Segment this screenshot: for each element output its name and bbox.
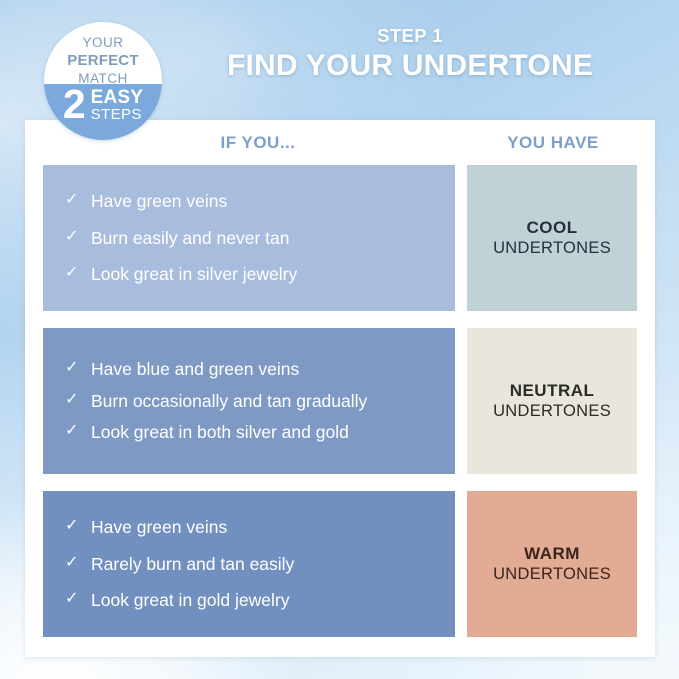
list-item-label: Burn easily and never tan — [91, 227, 439, 250]
check-icon: ✓ — [65, 190, 91, 211]
result-swatch-warm: WARM UNDERTONES — [467, 491, 637, 637]
result-swatch-neutral: NEUTRAL UNDERTONES — [467, 328, 637, 474]
check-icon: ✓ — [65, 227, 91, 248]
list-item-label: Look great in silver jewelry — [91, 263, 439, 286]
criteria-cell-neutral: ✓ Have blue and green veins ✓ Burn occas… — [43, 328, 455, 474]
list-item-label: Rarely burn and tan easily — [91, 553, 439, 576]
check-icon: ✓ — [65, 390, 91, 411]
list-item-label: Have green veins — [91, 190, 439, 213]
infographic-stage: STEP 1 FIND YOUR UNDERTONE YOUR PERFECT … — [0, 0, 679, 679]
row-spacer — [455, 165, 468, 311]
content-card: IF YOU... YOU HAVE ✓ Have green veins ✓ … — [25, 120, 655, 657]
table-row: ✓ Have blue and green veins ✓ Burn occas… — [43, 328, 637, 474]
badge-label-easy: EASY — [91, 88, 144, 107]
swatch-subtitle: UNDERTONES — [493, 564, 611, 585]
list-item: ✓ Have blue and green veins — [65, 358, 439, 381]
list-item: ✓ Have green veins — [65, 516, 439, 539]
list-item: ✓ Look great in both silver and gold — [65, 421, 439, 444]
perfect-match-badge: YOUR PERFECT MATCH 2 EASY STEPS — [44, 22, 162, 140]
check-icon: ✓ — [65, 263, 91, 284]
badge-steps-wrap: EASY STEPS — [91, 86, 144, 123]
swatch-title: WARM — [524, 543, 580, 564]
list-item: ✓ Rarely burn and tan easily — [65, 553, 439, 576]
swatch-title: NEUTRAL — [510, 380, 595, 401]
list-item: ✓ Burn occasionally and tan gradually — [65, 390, 439, 413]
check-icon: ✓ — [65, 589, 91, 610]
badge-label-steps: STEPS — [91, 107, 144, 123]
table-row: ✓ Have green veins ✓ Rarely burn and tan… — [43, 491, 637, 637]
criteria-cell-cool: ✓ Have green veins ✓ Burn easily and nev… — [43, 165, 455, 311]
header-block: STEP 1 FIND YOUR UNDERTONE — [160, 26, 660, 84]
list-item: ✓ Look great in gold jewelry — [65, 589, 439, 612]
list-item: ✓ Have green veins — [65, 190, 439, 213]
check-icon: ✓ — [65, 553, 91, 574]
criteria-cell-warm: ✓ Have green veins ✓ Rarely burn and tan… — [43, 491, 455, 637]
list-item-label: Look great in gold jewelry — [91, 589, 439, 612]
undertone-rows: ✓ Have green veins ✓ Burn easily and nev… — [43, 165, 637, 637]
list-item-label: Burn occasionally and tan gradually — [91, 390, 439, 413]
step-label: STEP 1 — [160, 26, 660, 46]
list-item-label: Have green veins — [91, 516, 439, 539]
check-icon: ✓ — [65, 516, 91, 537]
badge-bottom-text: 2 EASY STEPS — [44, 86, 162, 124]
row-spacer — [455, 328, 468, 474]
column-header-you-have: YOU HAVE — [468, 133, 638, 153]
list-item: ✓ Look great in silver jewelry — [65, 263, 439, 286]
list-item: ✓ Burn easily and never tan — [65, 227, 439, 250]
badge-step-count: 2 — [63, 86, 86, 124]
list-item-label: Look great in both silver and gold — [91, 421, 439, 444]
result-swatch-cool: COOL UNDERTONES — [467, 165, 637, 311]
check-icon: ✓ — [65, 421, 91, 442]
badge-line-perfect: PERFECT — [44, 51, 162, 70]
table-row: ✓ Have green veins ✓ Burn easily and nev… — [43, 165, 637, 311]
page-title: FIND YOUR UNDERTONE — [160, 49, 660, 84]
swatch-subtitle: UNDERTONES — [493, 238, 611, 259]
row-spacer — [455, 491, 468, 637]
badge-top-text: YOUR PERFECT MATCH — [44, 34, 162, 88]
swatch-subtitle: UNDERTONES — [493, 401, 611, 422]
check-icon: ✓ — [65, 358, 91, 379]
badge-line-your: YOUR — [44, 34, 162, 51]
swatch-title: COOL — [527, 217, 578, 238]
list-item-label: Have blue and green veins — [91, 358, 439, 381]
